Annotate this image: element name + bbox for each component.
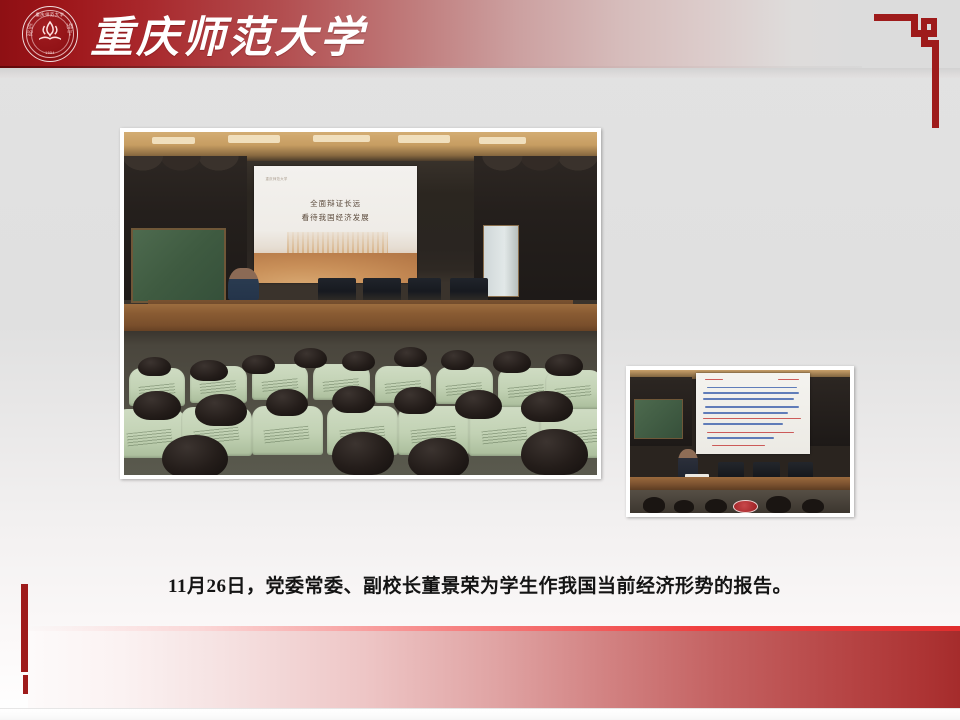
- logo-flame-book-mark: [35, 20, 65, 44]
- slide-headline-line2: 看待我国经济发展: [254, 211, 417, 225]
- audience-head: [162, 435, 228, 475]
- audience-head: [493, 351, 531, 373]
- ceiling-light: [479, 137, 526, 145]
- photo-speaker-closeup-image: [630, 370, 850, 513]
- corner-ornament-top-right-icon: [874, 10, 946, 128]
- audience-head: [674, 500, 694, 513]
- logo-right-text: UNIVERSITY: [67, 24, 74, 38]
- photo-lecture-hall-wide-image: 重庆师范大学 全面辩证长远 看待我国经济发展: [124, 132, 597, 475]
- audience-head: [266, 389, 309, 416]
- audience-head: [545, 354, 583, 376]
- slide-brand-text: 重庆师范大学: [265, 176, 287, 181]
- audience-head: [643, 497, 665, 513]
- audience-head: [394, 387, 437, 414]
- slide-headline: 全面辩证长远 看待我国经济发展: [254, 197, 417, 226]
- audience-head: [195, 394, 247, 426]
- slide-bottom-edge: [0, 708, 960, 720]
- stage-front-panel: [124, 304, 597, 335]
- footer-band: [28, 631, 960, 708]
- audience-head: [521, 429, 587, 475]
- chalkboard: [634, 399, 682, 439]
- audience-head: [766, 496, 790, 513]
- slide-headline-line1: 全面辩证长远: [254, 197, 417, 211]
- photo-lecture-hall-wide[interactable]: 重庆师范大学 全面辩证长远 看待我国经济发展: [120, 128, 601, 479]
- audience-head: [802, 499, 824, 513]
- stage-chair: [318, 278, 356, 300]
- university-name-title: 重庆师范大学: [90, 8, 366, 60]
- projection-screen: [696, 373, 810, 455]
- audience-head: [455, 390, 502, 419]
- audience-head: [705, 499, 727, 513]
- speaker-person: [678, 449, 698, 478]
- audience-head: [294, 348, 327, 368]
- presentation-slide: 重庆师范大学 CHONGQING UNIVERSITY 1954 重庆师范大学: [0, 0, 960, 720]
- ceiling-light: [152, 137, 195, 145]
- logo-bottom-text: 1954: [23, 52, 77, 56]
- ceiling-light: [398, 135, 450, 143]
- audience-seating-area: [124, 331, 597, 475]
- audience-head: [332, 432, 393, 475]
- head-table: [630, 477, 850, 490]
- chalkboard: [131, 228, 226, 303]
- hall-scene-closeup: [630, 370, 850, 513]
- stage-chair: [450, 278, 488, 300]
- audience-head: [521, 391, 573, 421]
- audience-head: [190, 360, 228, 382]
- stage-chair: [788, 462, 812, 478]
- audience-head: [242, 355, 275, 374]
- stage-chair: [753, 462, 779, 478]
- audience-head: [441, 350, 474, 370]
- projection-screen: 重庆师范大学 全面辩证长远 看待我国经济发展: [254, 166, 417, 283]
- university-logo-icon: 重庆师范大学 CHONGQING UNIVERSITY 1954: [22, 6, 78, 62]
- ceiling-light: [313, 135, 370, 143]
- audience-head: [138, 357, 171, 376]
- stage-chair: [408, 278, 441, 300]
- stage-chair: [718, 462, 744, 478]
- stage-curtain-right: [810, 377, 850, 446]
- header-underline: [0, 68, 960, 78]
- speaker-person: [228, 268, 259, 301]
- audience-head: [342, 351, 375, 371]
- ceiling-light: [228, 135, 280, 143]
- stage-side-door: [483, 225, 518, 297]
- logo-left-text: CHONGQING: [27, 24, 34, 38]
- university-emblem-banner: [733, 500, 757, 513]
- audience-head: [394, 347, 427, 367]
- stage-chair: [363, 278, 401, 300]
- audience-head: [332, 386, 375, 413]
- audience-head: [133, 391, 180, 420]
- photo-speaker-closeup[interactable]: [626, 366, 854, 517]
- logo-top-text: 重庆师范大学: [23, 13, 77, 17]
- slide-caption: 11月26日，党委常委、副校长董景荣为学生作我国当前经济形势的报告。: [0, 571, 960, 598]
